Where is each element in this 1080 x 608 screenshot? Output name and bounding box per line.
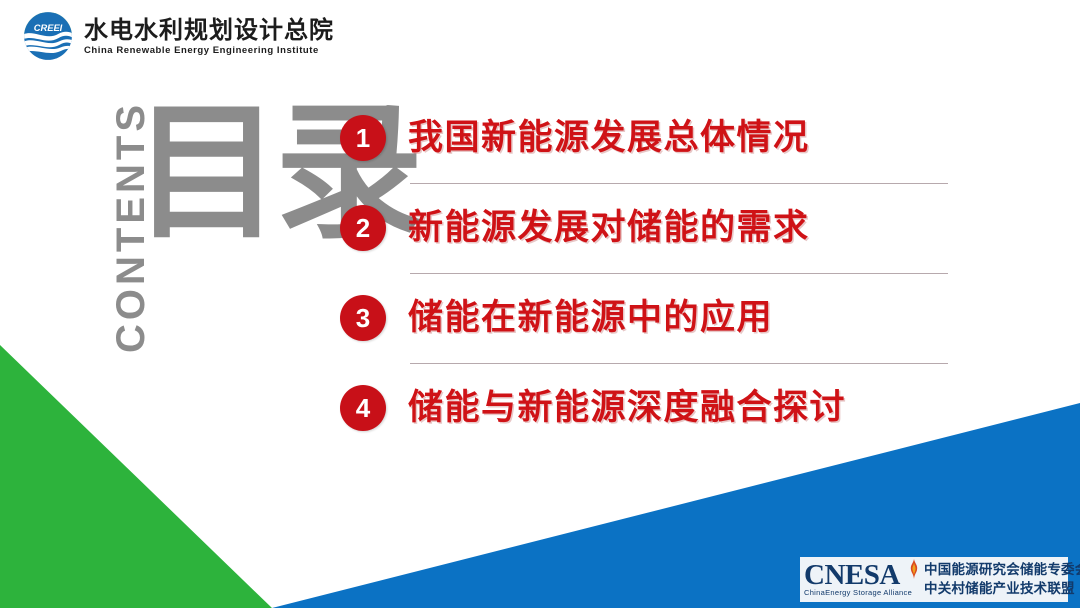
agenda-row: 1 我国新能源发展总体情况 — [340, 104, 980, 172]
brand-header: CREEI 水电水利规划设计总院 China Renewable Energy … — [22, 10, 334, 62]
agenda-item-4[interactable]: 4 储能与新能源深度融合探讨 — [340, 374, 980, 454]
agenda-item-label: 储能在新能源中的应用 — [408, 301, 773, 336]
creei-wordmark: CREEI — [34, 23, 63, 33]
cnesa-line2-cn: 中关村储能产业技术联盟 — [924, 580, 1080, 598]
agenda-number-badge: 3 — [340, 295, 386, 341]
cnesa-line1-cn: 中国能源研究会储能专委会 — [924, 561, 1080, 579]
agenda-row: 2 新能源发展对储能的需求 — [340, 194, 980, 262]
org-name-cn: 水电水利规划设计总院 — [84, 18, 334, 43]
agenda-number-badge: 4 — [340, 385, 386, 431]
org-name-en: China Renewable Energy Engineering Insti… — [84, 45, 334, 56]
cnesa-acronym: CNESA — [804, 562, 912, 588]
agenda-divider — [410, 183, 948, 184]
agenda-list: 1 我国新能源发展总体情况 2 新能源发展对储能的需求 3 储能在新能源中的应用… — [340, 104, 980, 454]
agenda-row: 4 储能与新能源深度融合探讨 — [340, 374, 980, 442]
slide-root: CREEI 水电水利规划设计总院 China Renewable Energy … — [0, 0, 1080, 608]
cnesa-alliance-en: ChinaEnergy Storage Alliance — [804, 589, 912, 597]
agenda-item-3[interactable]: 3 储能在新能源中的应用 — [340, 284, 980, 374]
agenda-item-2[interactable]: 2 新能源发展对储能的需求 — [340, 194, 980, 284]
agenda-item-label: 我国新能源发展总体情况 — [408, 121, 810, 156]
cnesa-left-group: CNESA ChinaEnergy Storage Alliance — [804, 562, 914, 597]
contents-block: CONTENTS 目录 — [105, 95, 335, 385]
agenda-divider — [410, 363, 948, 364]
flame-icon — [908, 559, 920, 579]
brand-text-group: 水电水利规划设计总院 China Renewable Energy Engine… — [84, 16, 334, 57]
agenda-divider — [410, 273, 948, 274]
agenda-number-badge: 1 — [340, 115, 386, 161]
cnesa-right-group: 中国能源研究会储能专委会 中关村储能产业技术联盟 — [924, 561, 1080, 597]
agenda-item-label: 新能源发展对储能的需求 — [408, 211, 810, 246]
agenda-item-1[interactable]: 1 我国新能源发展总体情况 — [340, 104, 980, 194]
agenda-row: 3 储能在新能源中的应用 — [340, 284, 980, 352]
agenda-number-badge: 2 — [340, 205, 386, 251]
agenda-item-label: 储能与新能源深度融合探讨 — [408, 391, 846, 426]
creei-circle-logo-icon: CREEI — [22, 10, 74, 62]
cnesa-logo: CNESA ChinaEnergy Storage Alliance 中国能源研… — [800, 557, 1068, 602]
